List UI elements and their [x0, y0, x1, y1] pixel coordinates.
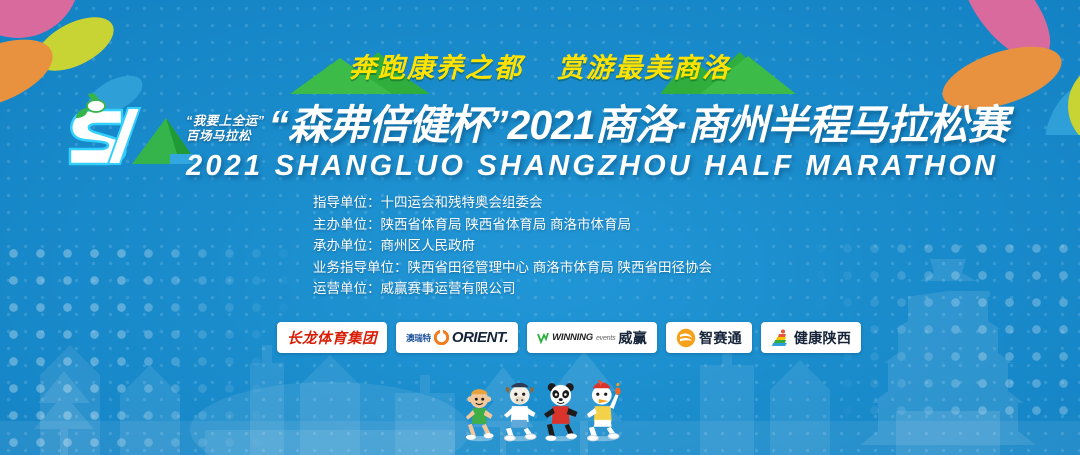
sponsor-label-cn: 威赢 [618, 328, 647, 348]
slogan-part-1: 奔跑康养之都 [349, 46, 523, 85]
badge-line-1: “我要上全运” [186, 114, 265, 129]
event-emblem-logo [62, 92, 202, 174]
organizer-line: 承办单位：商州区人民政府 [313, 235, 712, 257]
organizer-list: 指导单位：十四运会和残特奥会组委会 主办单位：陕西省体育局 陕西省体育局 商洛市… [313, 192, 712, 300]
organizer-line: 指导单位：十四运会和残特奥会组委会 [313, 192, 712, 214]
sponsor-label-en-sub: events [596, 335, 615, 342]
event-slogan: 奔跑康养之都 赏游最美商洛 [0, 36, 1080, 94]
sponsor-label-cn: 澳瑞特 [406, 332, 431, 344]
sponsor-logo-zhisaitong[interactable]: 智赛通 [666, 322, 752, 353]
organizer-line: 业务指导单位：陕西省田径管理中心 商洛市体育局 陕西省田径协会 [313, 257, 712, 279]
sponsor-logo-jiankang-shaanxi[interactable]: 健康陕西 [761, 322, 861, 353]
marathon-event-poster: 奔跑康养之都 赏游最美商洛 “我要上全运” 百场马拉松 “森弗倍健杯”2021商… [0, 0, 1080, 455]
mascot-takin [500, 380, 539, 442]
sponsor-logo-winning[interactable]: WINNING events 威赢 [527, 322, 657, 353]
winning-check-icon [537, 332, 549, 344]
sponsor-logo-row: 长龙体育集团 澳瑞特 ORIENT. WINNING events 威赢 [277, 322, 861, 353]
slogan-part-2: 赏游最美商洛 [557, 46, 731, 85]
mascot-giant-panda [541, 380, 580, 442]
sponsor-logo-changlong[interactable]: 长龙体育集团 [277, 322, 387, 353]
zhisaitong-swirl-icon [676, 328, 696, 348]
sponsor-label: 长龙体育集团 [287, 327, 377, 348]
sponsor-label-en: ORIENT. [452, 329, 508, 346]
healthy-shaanxi-runner-icon [771, 329, 791, 347]
sponsor-label-en: WINNING [552, 332, 593, 343]
event-title-block: “我要上全运” 百场马拉松 “森弗倍健杯”2021商洛·商州半程马拉松赛 202… [186, 92, 1036, 183]
mascot-golden-monkey [462, 384, 498, 442]
sponsor-logo-orient[interactable]: 澳瑞特 ORIENT. [396, 322, 518, 353]
quanyun-badge: “我要上全运” 百场马拉松 [186, 114, 265, 148]
title-main-row: “我要上全运” 百场马拉松 “森弗倍健杯”2021商洛·商州半程马拉松赛 [186, 92, 1036, 148]
badge-line-2: 百场马拉松 [186, 129, 265, 144]
sponsor-label: 智赛通 [699, 328, 742, 348]
organizer-line: 运营单位：威赢赛事运营有限公司 [313, 278, 712, 300]
national-games-mascots [462, 372, 622, 442]
orient-ring-icon [434, 330, 449, 345]
title-chinese: “森弗倍健杯”2021商洛·商州半程马拉松赛 [269, 102, 1008, 148]
mascot-crested-ibis [583, 380, 622, 442]
title-english: 2021 SHANGLUO SHANGZHOU HALF MARATHON [186, 150, 1036, 183]
sponsor-label: 健康陕西 [794, 328, 851, 348]
organizer-line: 主办单位：陕西省体育局 陕西省体育局 商洛市体育局 [313, 214, 712, 236]
